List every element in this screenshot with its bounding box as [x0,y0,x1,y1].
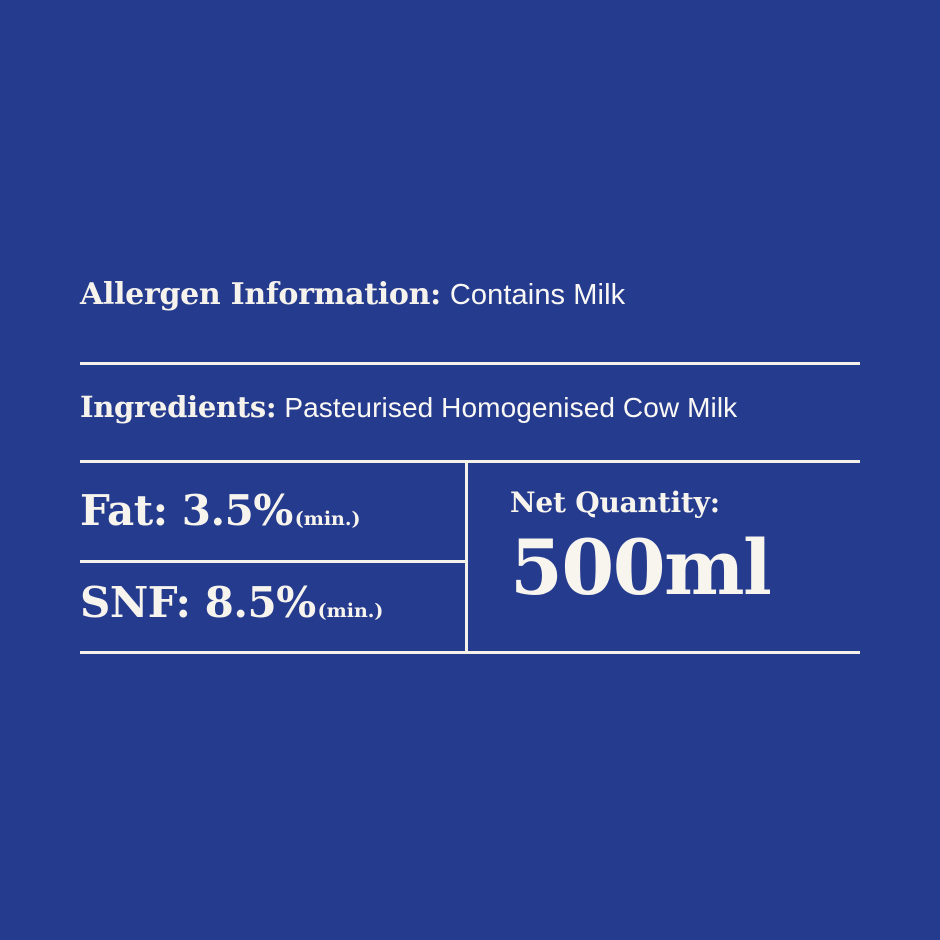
allergen-information-value: Contains Milk [450,279,625,312]
net-quantity-block: Net Quantity: 500ml [510,486,860,607]
allergen-information-row: Allergen Information: Contains Milk [80,277,860,323]
snf-content-qualifier: (min.) [318,600,384,622]
snf-content-value: SNF: 8.5% [80,578,316,627]
divider-vertical-composition-netquantity [465,460,468,654]
net-quantity-value: 500ml [510,529,860,607]
ingredients-row: Ingredients: Pasteurised Homogenised Cow… [80,390,870,436]
ingredients-label: Ingredients: [80,390,276,424]
divider-below-ingredients [80,460,860,463]
fat-content-cell: Fat: 3.5% (min.) [80,486,455,546]
divider-below-allergen [80,362,860,365]
allergen-information-label: Allergen Information: [80,277,441,312]
nutrition-label-panel: Allergen Information: Contains Milk Ingr… [80,0,860,940]
ingredients-value: Pasteurised Homogenised Cow Milk [284,392,737,424]
snf-content-cell: SNF: 8.5% (min.) [80,578,455,638]
divider-bottom [80,651,860,654]
divider-between-fat-and-snf [80,560,465,563]
fat-content-qualifier: (min.) [295,508,361,530]
fat-content-value: Fat: 3.5% [80,486,293,535]
net-quantity-label: Net Quantity: [510,486,860,519]
